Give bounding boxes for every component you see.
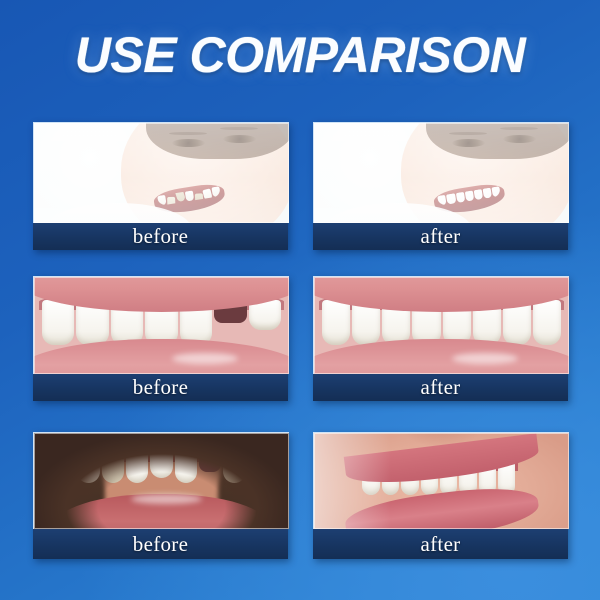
photo-row2-after <box>313 276 569 374</box>
use-comparison-poster: USE COMPARISON before <box>0 0 600 600</box>
photo-row3-before <box>33 432 289 529</box>
eyebrow-right <box>500 127 538 130</box>
caption-before: before <box>33 374 288 401</box>
eyebrow-left <box>169 132 207 135</box>
photo-row3-after <box>313 432 569 529</box>
eyebrow-left <box>449 132 487 135</box>
comparison-card-row1-after: after <box>313 122 568 250</box>
eye-left <box>452 139 485 147</box>
comparison-card-row3-after: after <box>313 432 568 559</box>
cheek-highlight <box>313 432 391 529</box>
eye-left <box>172 139 205 147</box>
eyebrow-right <box>220 127 258 130</box>
caption-after: after <box>313 529 568 559</box>
caption-after: after <box>313 374 568 401</box>
photo-row1-after <box>313 122 569 223</box>
caption-before: before <box>33 223 288 250</box>
eye-right <box>503 135 536 143</box>
beard-shading <box>34 433 289 529</box>
photo-row2-before <box>33 276 289 374</box>
page-title: USE COMPARISON <box>0 26 600 84</box>
comparison-card-row2-before: before <box>33 276 288 401</box>
caption-after: after <box>313 223 568 250</box>
eye-right <box>223 135 256 143</box>
photo-row1-before <box>33 122 289 223</box>
comparison-card-row3-before: before <box>33 432 288 559</box>
caption-before: before <box>33 529 288 559</box>
comparison-card-row2-after: after <box>313 276 568 401</box>
comparison-card-row1-before: before <box>33 122 288 250</box>
